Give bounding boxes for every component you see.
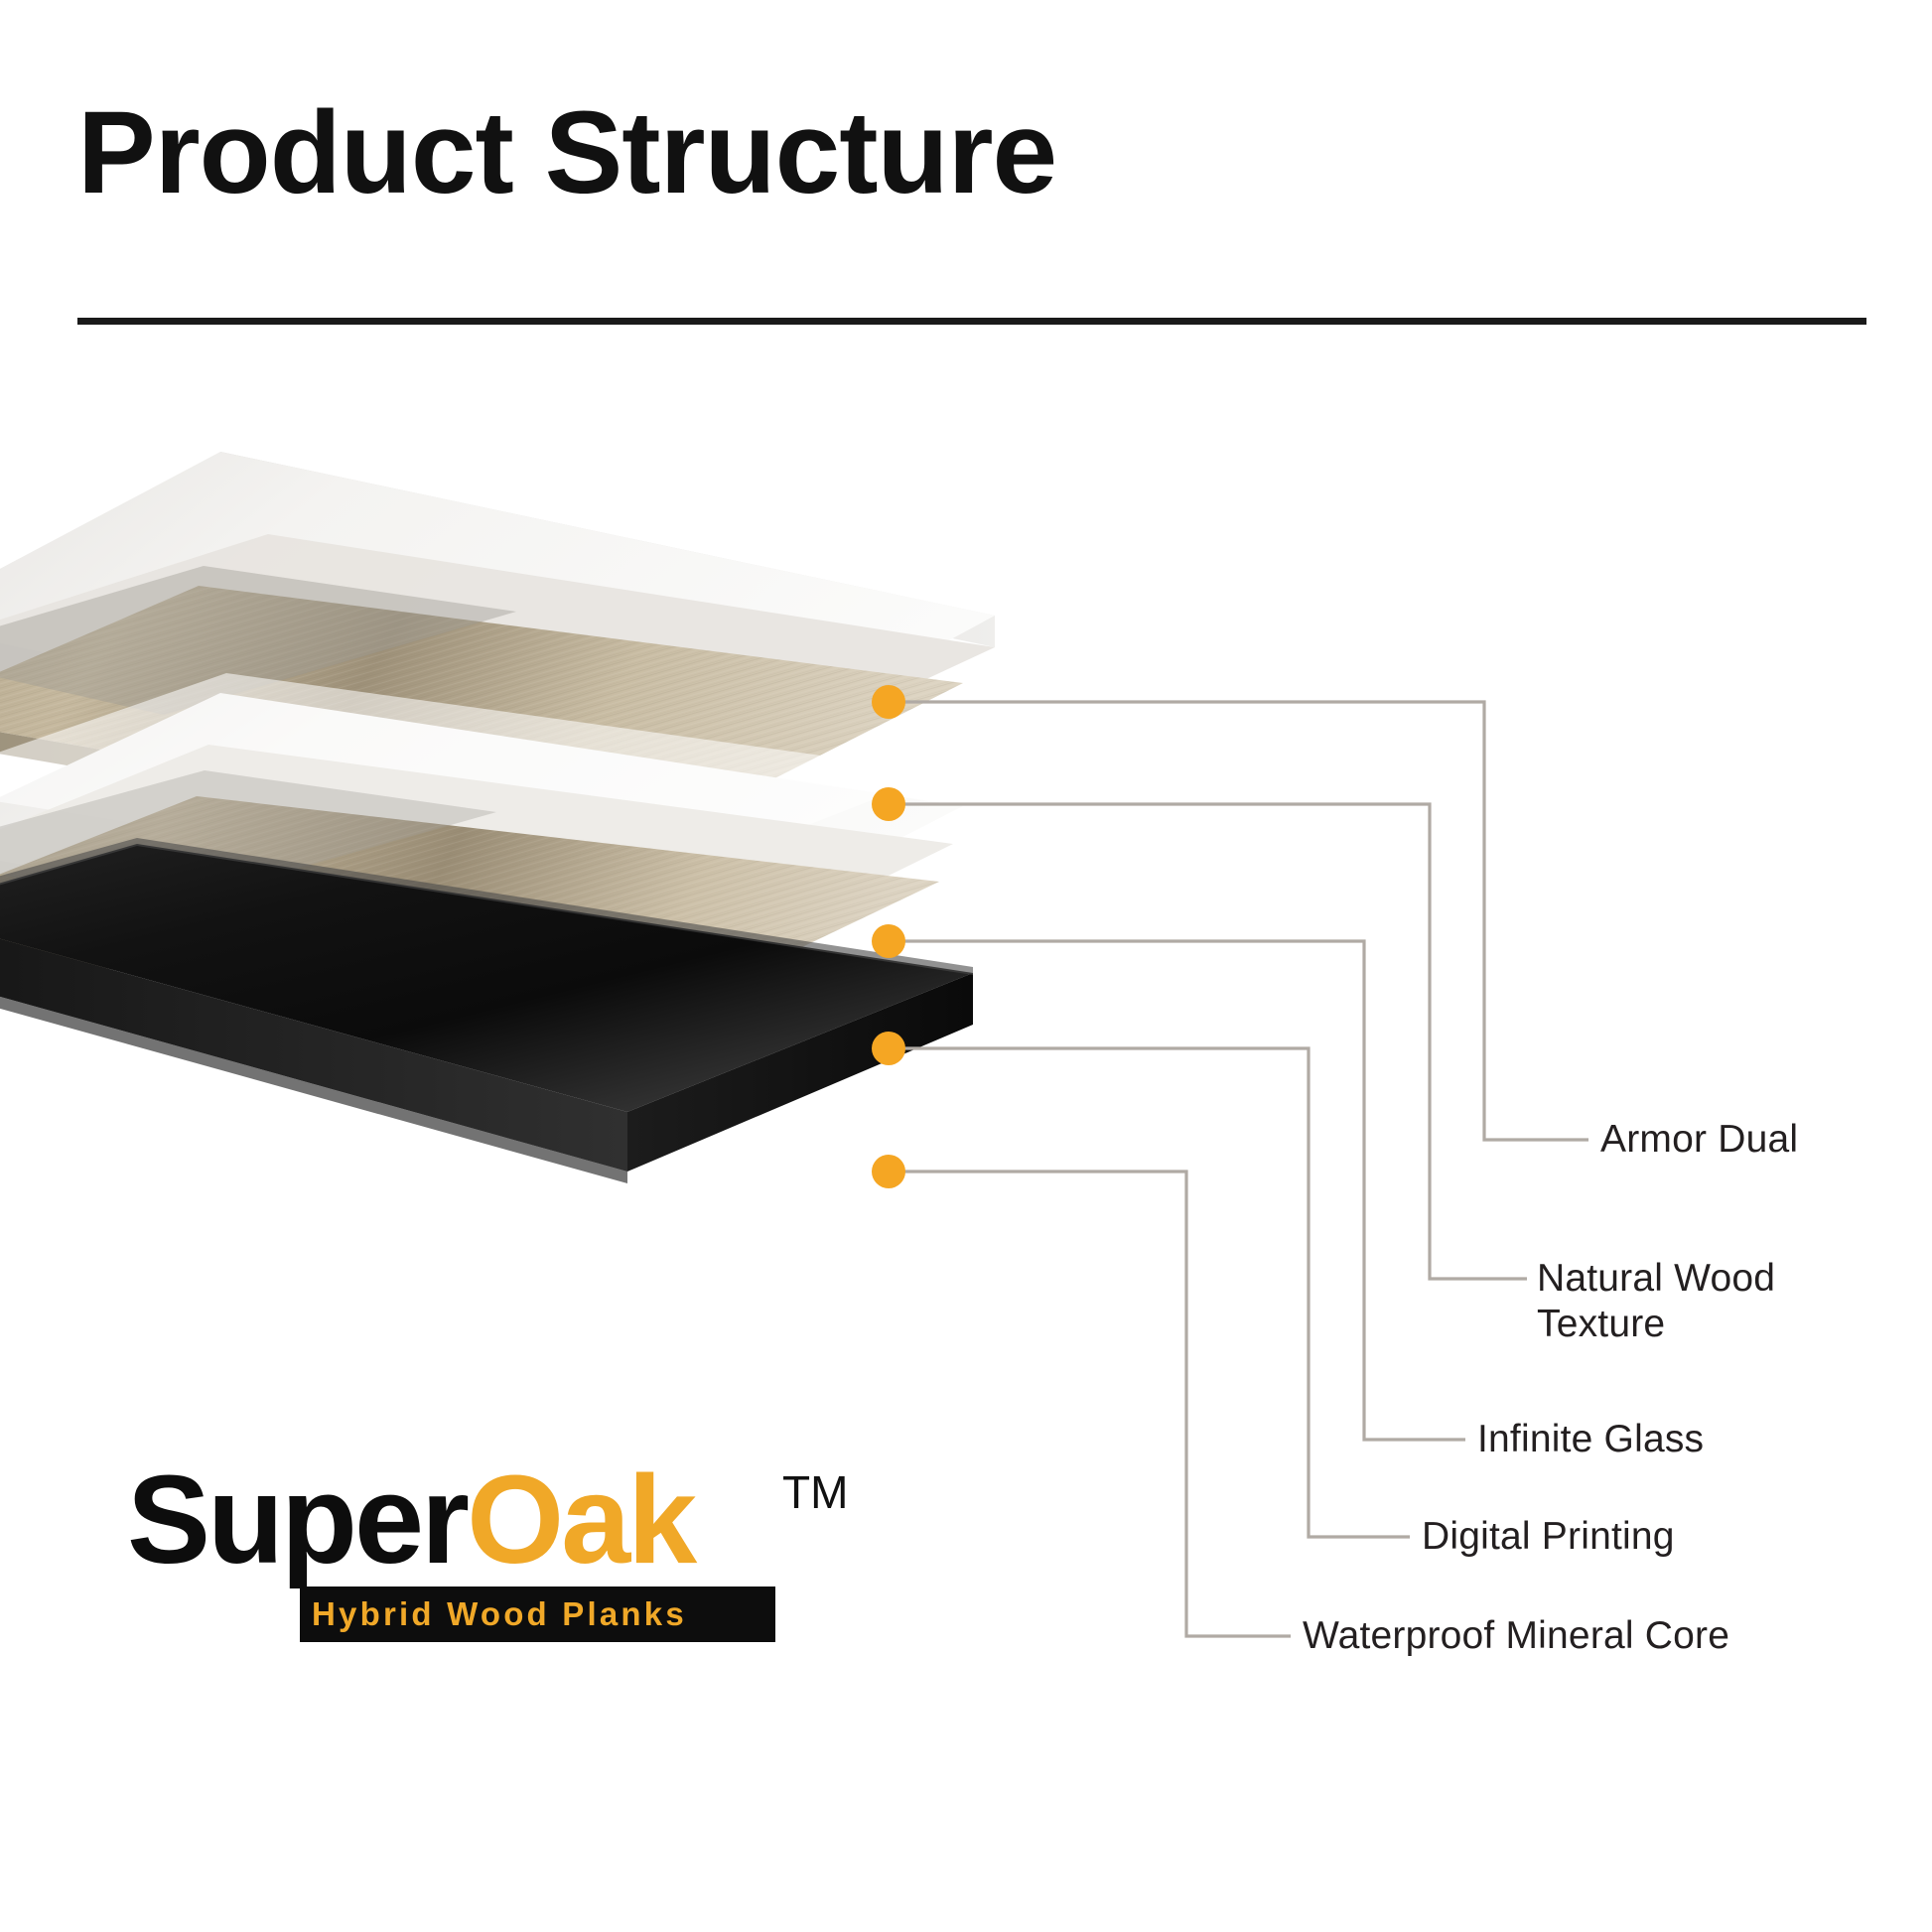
poster-canvas: Product Structure <box>0 0 1932 1932</box>
logo-trademark-symbol: TM <box>782 1465 848 1519</box>
brand-logo: SuperOak TM Hybrid Wood Planks <box>127 1457 941 1666</box>
logo-wordmark: SuperOak <box>127 1457 694 1583</box>
callout-label-infinite-glass: Infinite Glass <box>1477 1417 1704 1462</box>
logo-word-oak: Oak <box>467 1449 694 1589</box>
leader-line-waterproof-mineral-core <box>897 1172 1291 1636</box>
product-layer-illustration <box>0 417 1042 1191</box>
title-divider <box>77 318 1866 325</box>
callout-label-waterproof-mineral-core: Waterproof Mineral Core <box>1303 1613 1729 1659</box>
callout-label-digital-printing: Digital Printing <box>1422 1514 1675 1560</box>
callout-label-natural-wood-texture: Natural Wood Texture <box>1537 1256 1775 1346</box>
callout-label-armor-dual: Armor Dual <box>1600 1117 1798 1163</box>
logo-word-super: Super <box>127 1449 467 1589</box>
logo-tagline: Hybrid Wood Planks <box>312 1592 764 1636</box>
page-title: Product Structure <box>77 87 1056 218</box>
